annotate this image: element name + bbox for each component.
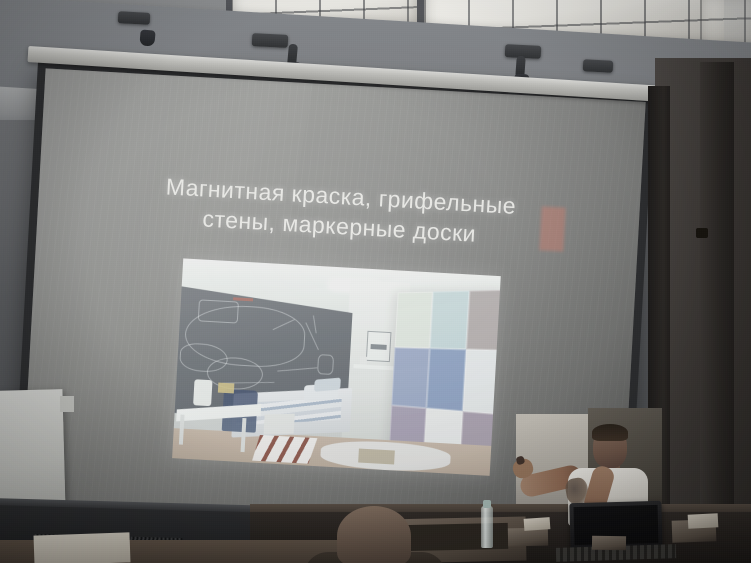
water-bottle-icon	[481, 506, 493, 548]
bottle-cap	[483, 500, 491, 508]
presenter-hair	[592, 424, 628, 441]
spotlight-icon	[118, 11, 151, 25]
foreground-paper	[34, 532, 131, 563]
spotlight-icon	[252, 33, 289, 48]
desk-box	[592, 536, 626, 551]
desk-paper	[524, 517, 551, 531]
attendee-head	[337, 506, 411, 563]
right-wall-column	[700, 62, 734, 562]
spotlight-icon	[583, 59, 614, 73]
desk-paper	[688, 513, 719, 529]
flipchart-easel[interactable]	[0, 389, 66, 513]
wall-fixture	[696, 228, 708, 238]
flipchart-notch	[60, 396, 74, 412]
presentation-room-photo: Магнитная краска, грифельные стены, марк…	[0, 0, 751, 563]
